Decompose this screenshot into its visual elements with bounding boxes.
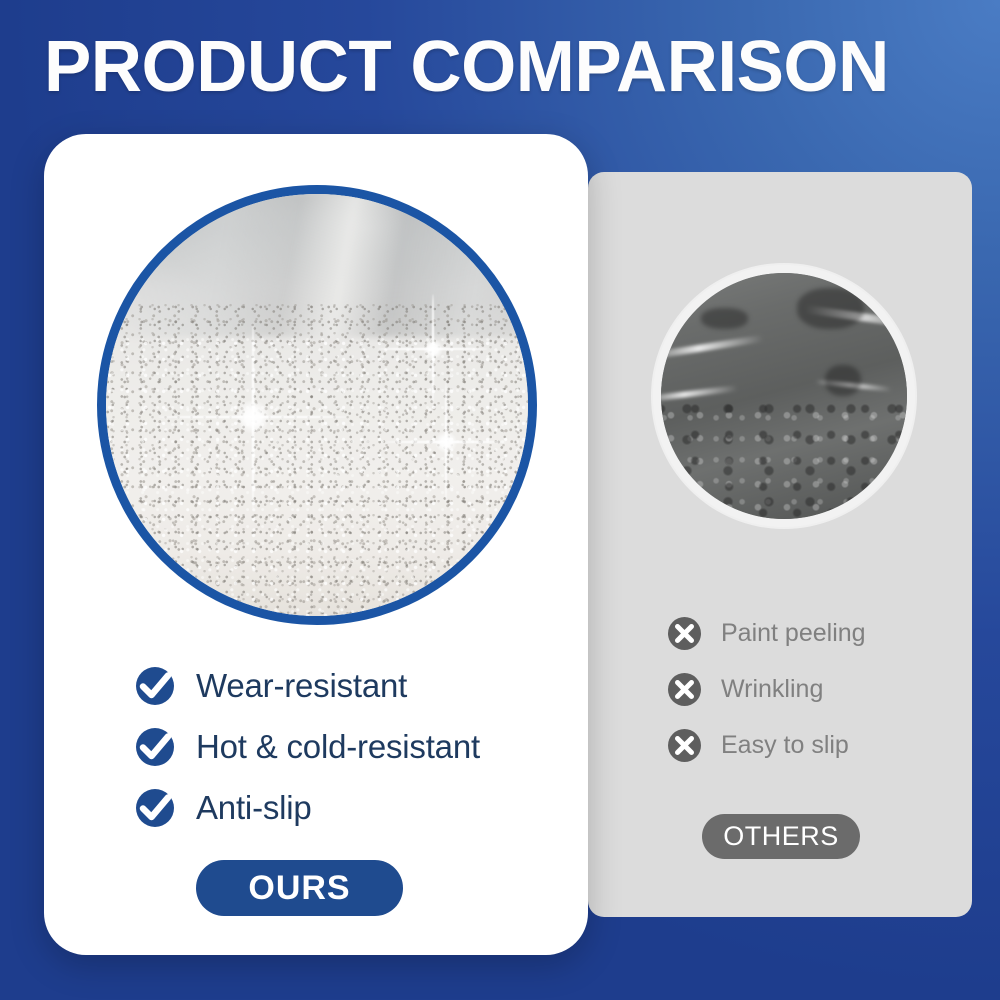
photo-glare-streak (653, 385, 738, 403)
others-product-photo (653, 265, 915, 527)
ours-feature-list: Wear-resistant Hot & cold-resistant Anti… (136, 655, 556, 838)
comparison-infographic: PRODUCT COMPARISON (0, 0, 1000, 1000)
check-circle-icon (136, 789, 174, 827)
list-item: Easy to slip (668, 717, 958, 773)
list-item-label: Easy to slip (721, 731, 849, 760)
check-circle-icon (136, 667, 174, 705)
list-item: Hot & cold-resistant (136, 716, 556, 777)
page-title: PRODUCT COMPARISON (44, 28, 950, 106)
others-drawback-list: Paint peeling Wrinkling Easy to slip (668, 605, 958, 773)
photo-damage-patch (825, 365, 861, 396)
list-item-label: Wear-resistant (196, 667, 407, 705)
others-photo-image (655, 267, 913, 525)
ours-photo-image (106, 194, 528, 616)
list-item: Wear-resistant (136, 655, 556, 716)
photo-rough-texture (655, 401, 913, 525)
list-item: Paint peeling (668, 605, 958, 661)
photo-damage-patch (701, 308, 747, 329)
photo-highlight-texture (106, 337, 528, 616)
ours-product-photo (97, 185, 537, 625)
check-circle-icon (136, 728, 174, 766)
list-item: Wrinkling (668, 661, 958, 717)
photo-glare-streak (653, 335, 763, 360)
list-item: Anti-slip (136, 777, 556, 838)
list-item-label: Wrinkling (721, 675, 823, 704)
list-item-label: Hot & cold-resistant (196, 728, 480, 766)
x-circle-icon (668, 673, 701, 706)
photo-damage-patch (797, 288, 864, 329)
list-item-label: Paint peeling (721, 619, 866, 648)
x-circle-icon (668, 729, 701, 762)
ours-badge: OURS (196, 860, 403, 916)
others-badge: OTHERS (702, 814, 860, 859)
x-circle-icon (668, 617, 701, 650)
list-item-label: Anti-slip (196, 789, 312, 827)
